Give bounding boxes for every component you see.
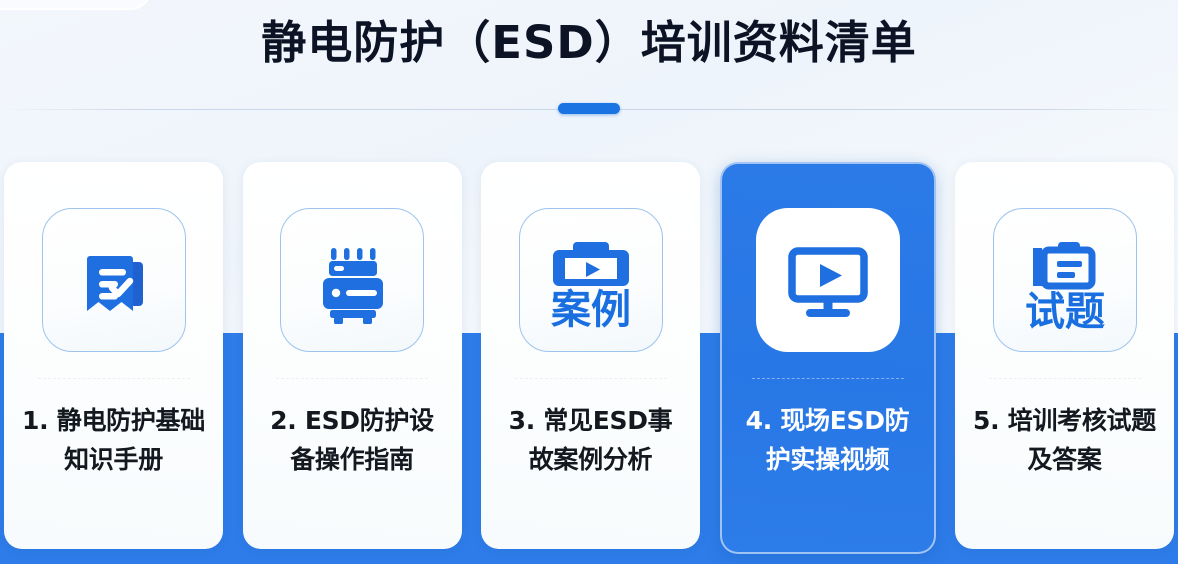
- camera-case-icon: 案例: [539, 230, 643, 330]
- icon-tile-5: 试题: [993, 208, 1137, 352]
- icon-caption-5: 试题: [1025, 289, 1105, 330]
- monitor-play-icon: [780, 234, 876, 326]
- card-item-4[interactable]: 4. 现场ESD防护实操视频: [720, 162, 936, 554]
- esd-equipment-icon: [306, 234, 398, 326]
- card-item-3[interactable]: 案例 3. 常见ESD事故案例分析: [481, 162, 700, 549]
- card-item-5[interactable]: 试题 5. 培训考核试题及答案: [955, 162, 1174, 549]
- card-separator-5: [989, 378, 1141, 379]
- slide-canvas: 静电防护（ESD）培训资料清单 1. 静电防护: [0, 0, 1178, 564]
- card-separator-2: [276, 378, 428, 379]
- icon-tile-3: 案例: [519, 208, 663, 352]
- card-label-5: 5. 培训考核试题及答案: [972, 401, 1158, 479]
- card-label-4: 4. 现场ESD防护实操视频: [735, 401, 921, 479]
- accent-underline: [558, 103, 620, 114]
- card-label-1: 1. 静电防护基础知识手册: [21, 401, 207, 479]
- card-item-2[interactable]: 2. ESD防护设备操作指南: [243, 162, 462, 549]
- page-title: 静电防护（ESD）培训资料清单: [0, 12, 1178, 74]
- icon-tile-2: [280, 208, 424, 352]
- icon-tile-1: [42, 208, 186, 352]
- header: 静电防护（ESD）培训资料清单: [0, 0, 1178, 120]
- card-rail: 1. 静电防护基础知识手册: [0, 162, 1178, 554]
- card-item-1[interactable]: 1. 静电防护基础知识手册: [4, 162, 223, 549]
- clipboard-exam-icon: 试题: [1013, 230, 1117, 330]
- icon-tile-4: [756, 208, 900, 352]
- card-label-2: 2. ESD防护设备操作指南: [259, 401, 445, 479]
- card-separator-3: [515, 378, 667, 379]
- icon-caption-3: 案例: [551, 287, 631, 330]
- document-checklist-icon: [68, 234, 160, 326]
- card-separator-1: [38, 378, 190, 379]
- card-label-3: 3. 常见ESD事故案例分析: [498, 401, 684, 479]
- card-separator-4: [752, 378, 904, 379]
